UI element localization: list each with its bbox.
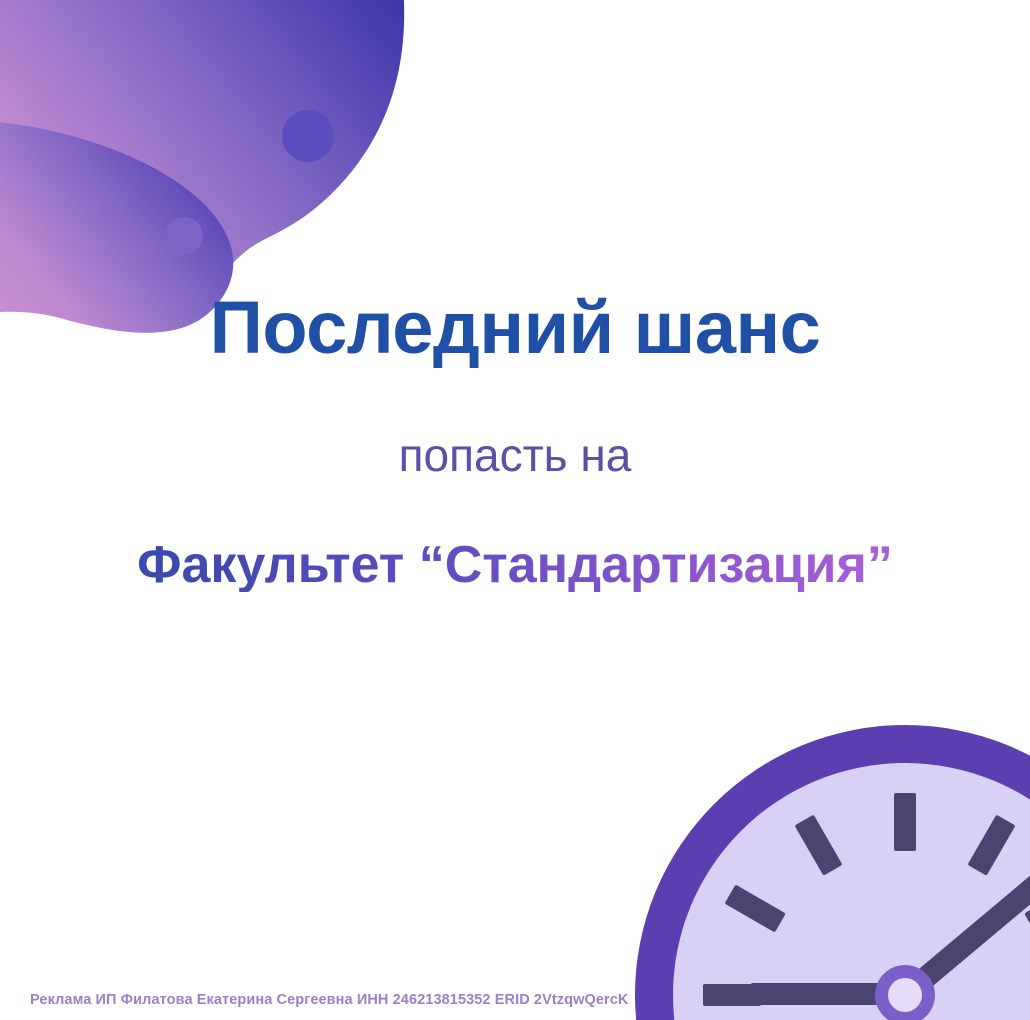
- clock-minute-hand: [894, 868, 1030, 1007]
- clock-tick-1: [967, 815, 1015, 876]
- faculty-title: Факультет “Стандартизация”: [0, 480, 1030, 593]
- gradient-blob-shape: [0, 0, 404, 316]
- clock-tick-2: [1024, 884, 1030, 932]
- decorative-dot-large: [282, 110, 334, 162]
- headline-block: Последний шанс попасть на Факультет “Ста…: [0, 290, 1030, 592]
- clock-hour-hand: [750, 983, 910, 1005]
- page-title: Последний шанс: [0, 290, 1030, 365]
- clock-center-hub: [875, 965, 935, 1020]
- clock-group: [635, 725, 1030, 1020]
- page-subtitle: попасть на: [0, 365, 1030, 479]
- decorative-dot-small: [165, 217, 203, 255]
- clock-tick-marks: [703, 793, 1030, 1020]
- clock-tick-10: [725, 884, 786, 932]
- clock-center-hub-inner: [888, 978, 922, 1012]
- poster-canvas: Последний шанс попасть на Факультет “Ста…: [0, 0, 1030, 1020]
- clock-tick-12: [894, 793, 916, 851]
- clock-tick-11: [794, 815, 842, 876]
- advertising-disclaimer: Реклама ИП Филатова Екатерина Сергеевна …: [30, 992, 628, 1008]
- clock-outer-ring: [635, 725, 1030, 1020]
- clock-face: [673, 763, 1030, 1020]
- clock-tick-9: [703, 984, 761, 1006]
